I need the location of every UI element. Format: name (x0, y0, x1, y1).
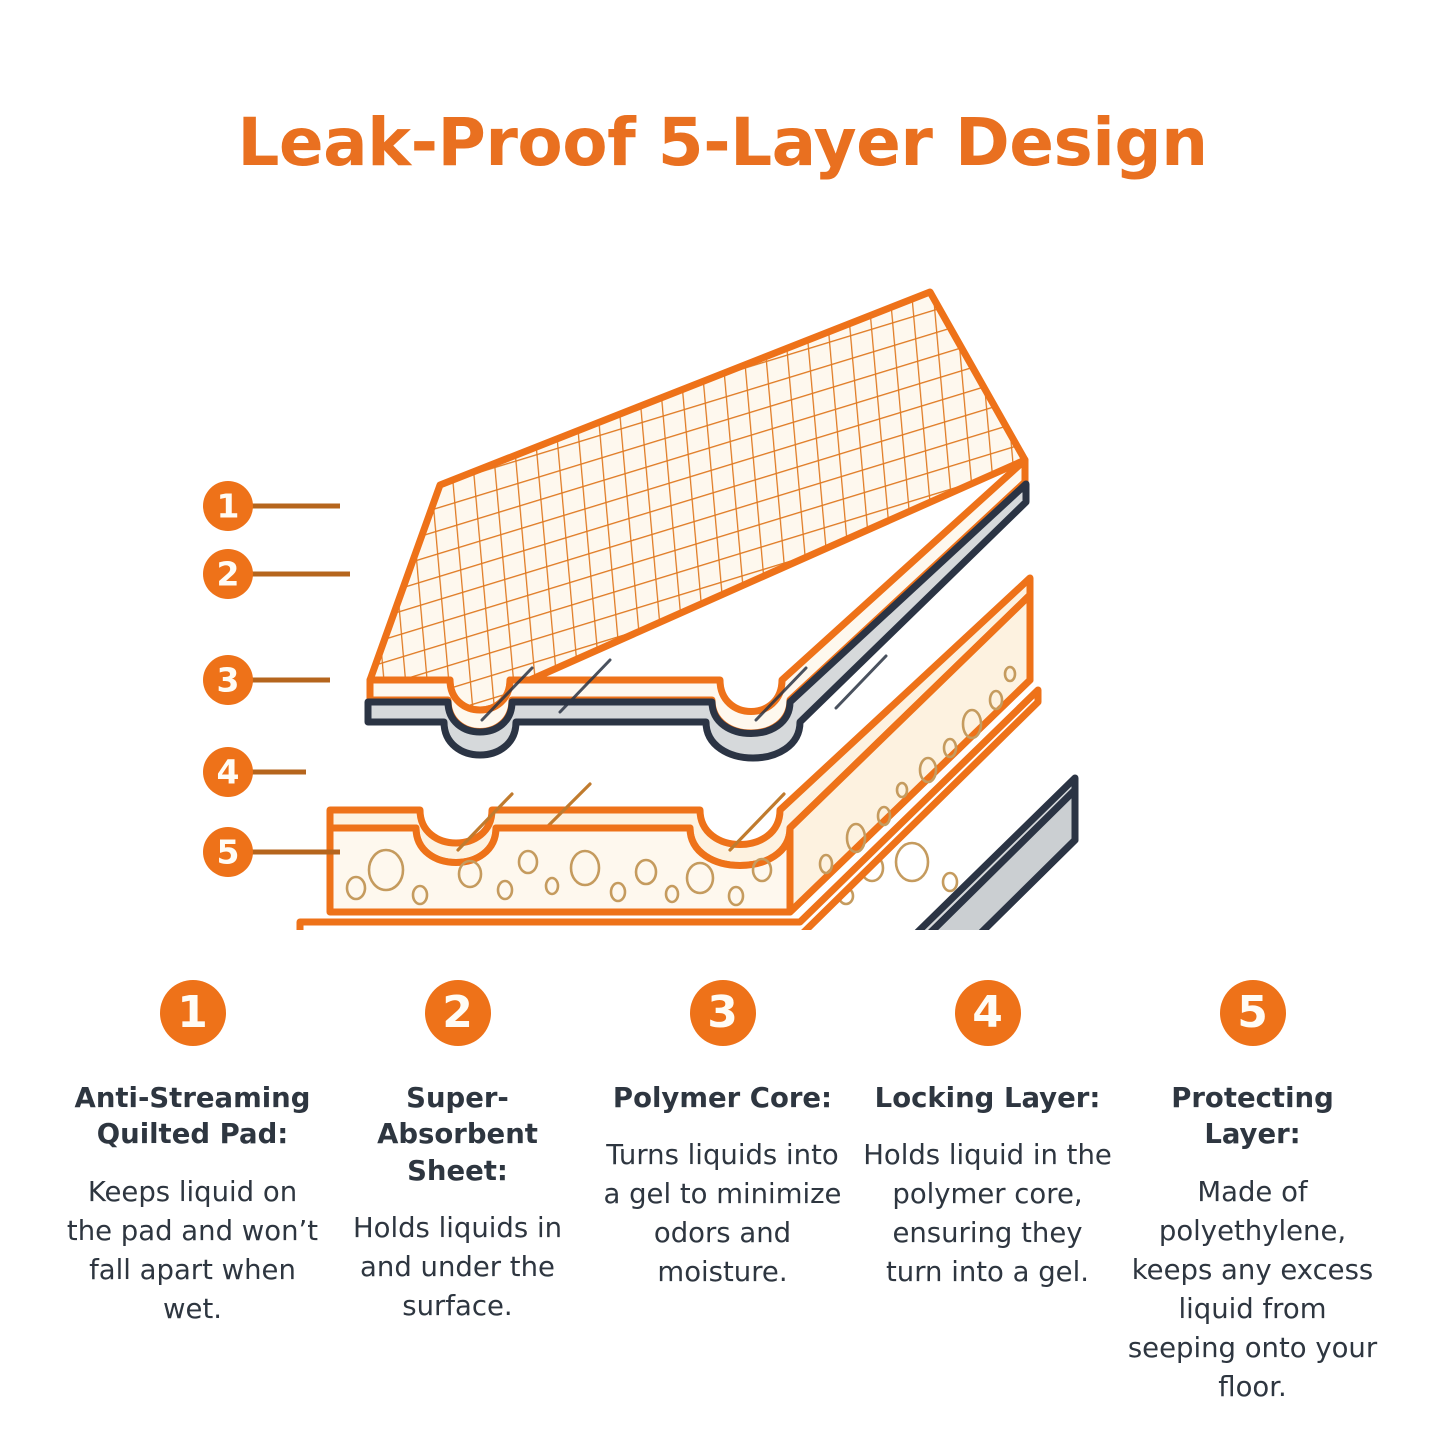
infographic-page: Leak-Proof 5-Layer Design (0, 0, 1445, 1445)
column-heading-4: Locking Layer: (875, 1080, 1101, 1116)
column-badge-4-icon: 4 (955, 980, 1021, 1046)
column-badge-3-icon: 3 (690, 980, 756, 1046)
page-title: Leak-Proof 5-Layer Design (0, 108, 1445, 177)
column-badge-2-icon: 2 (425, 980, 491, 1046)
layer-column-1: 1 Anti-Streaming Quilted Pad: Keeps liqu… (60, 980, 325, 1329)
column-body-5: Made of polyethylene, keeps any excess l… (1126, 1173, 1379, 1407)
svg-text:3: 3 (217, 661, 240, 700)
column-heading-1: Anti-Streaming Quilted Pad: (66, 1080, 319, 1153)
layer-column-3: 3 Polymer Core: Turns liquids into a gel… (590, 980, 855, 1292)
layer-column-5: 5 Protecting Layer: Made of polyethylene… (1120, 980, 1385, 1407)
column-body-2: Holds liquids in and under the surface. (331, 1209, 584, 1326)
column-badge-1-icon: 1 (160, 980, 226, 1046)
column-heading-5: Protecting Layer: (1126, 1080, 1379, 1153)
layer-column-2: 2 Super-Absorbent Sheet: Holds liquids i… (325, 980, 590, 1326)
column-body-4: Holds liquid in the polymer core, ensuri… (861, 1136, 1114, 1292)
callout-5: 5 (203, 827, 340, 877)
column-body-1: Keeps liquid on the pad and won’t fall a… (66, 1173, 319, 1329)
svg-text:2: 2 (217, 555, 240, 594)
column-heading-2: Super-Absorbent Sheet: (331, 1080, 584, 1189)
column-heading-3: Polymer Core: (613, 1080, 832, 1116)
callout-3: 3 (203, 655, 330, 705)
column-body-3: Turns liquids into a gel to minimize odo… (596, 1136, 849, 1292)
layer-column-4: 4 Locking Layer: Holds liquid in the pol… (855, 980, 1120, 1292)
column-badge-5-icon: 5 (1220, 980, 1286, 1046)
callout-1: 1 (203, 481, 340, 531)
layer-description-columns: 1 Anti-Streaming Quilted Pad: Keeps liqu… (0, 980, 1445, 1407)
svg-text:5: 5 (217, 833, 240, 872)
callout-2: 2 (203, 549, 350, 599)
callout-4: 4 (203, 747, 306, 797)
layer-stack-diagram: 1 2 3 4 (0, 250, 1445, 930)
layer-1-quilted-pad (370, 292, 1025, 733)
svg-text:4: 4 (217, 753, 240, 792)
svg-text:1: 1 (217, 487, 240, 526)
